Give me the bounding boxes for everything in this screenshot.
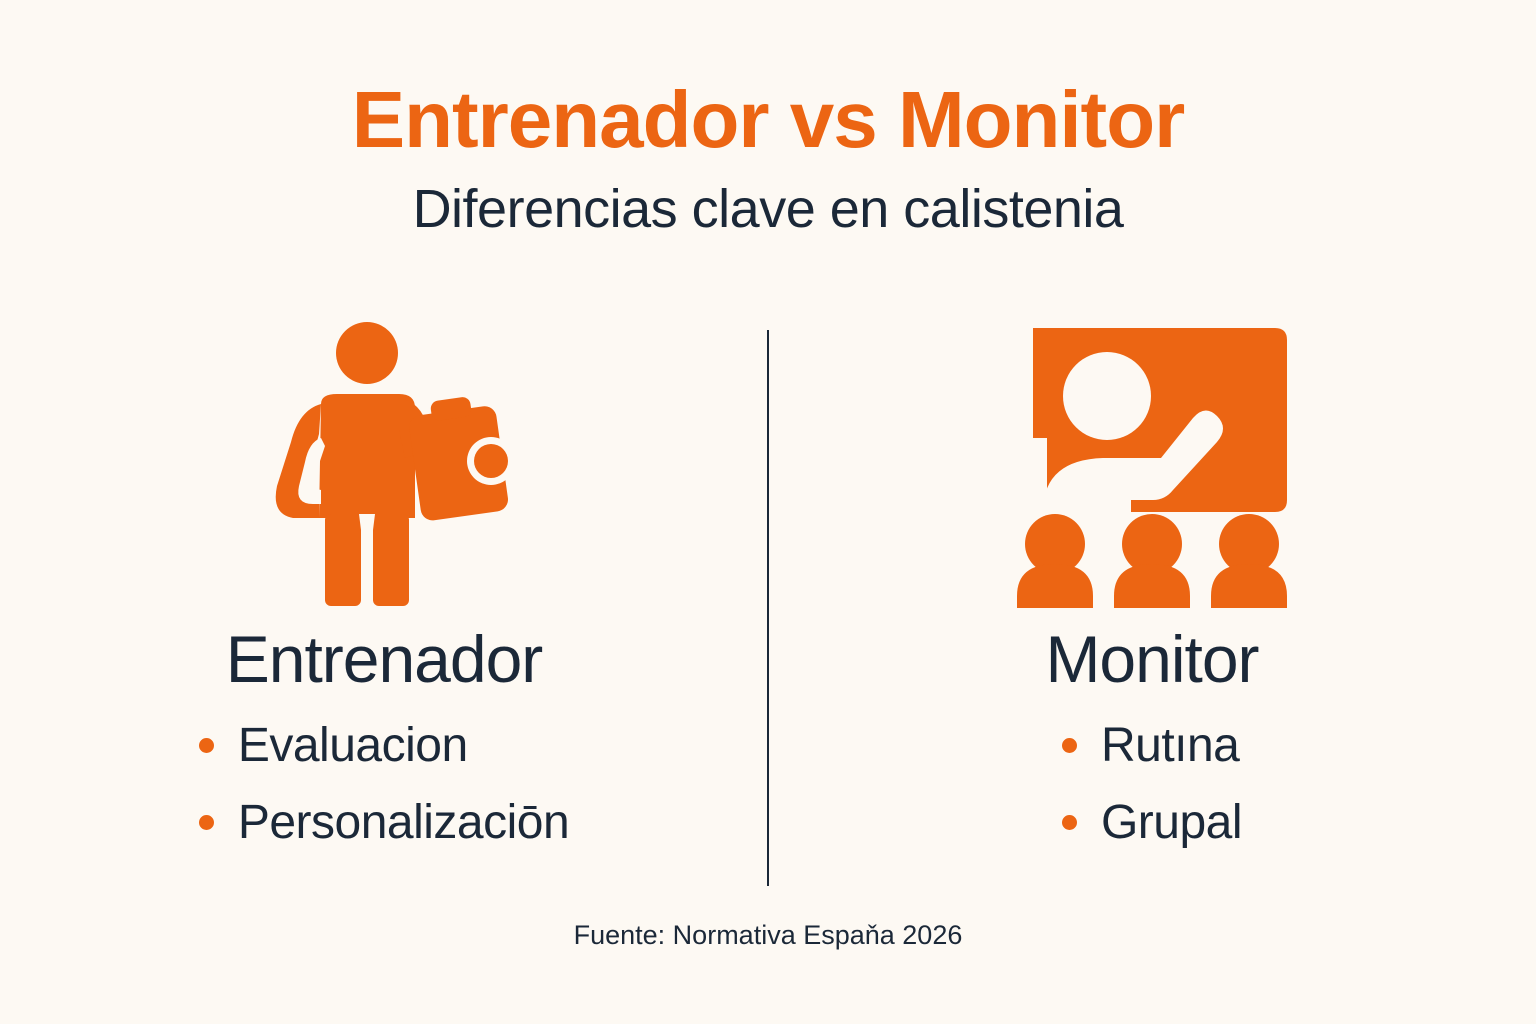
instructor-classroom-group-icon <box>1007 318 1297 608</box>
infographic-poster: Entrenador vs Monitor Diferencias clave … <box>0 0 1536 1024</box>
column-heading-entrenador: Entrenador <box>226 626 543 692</box>
bullet-dot-icon <box>199 815 214 830</box>
list-item: Grupal <box>1062 795 1242 850</box>
column-entrenador: Entrenador Evaluacion Personalizaciōn <box>0 318 768 898</box>
bullet-label: Rutına <box>1101 718 1239 773</box>
trainer-with-clipboard-icon <box>259 318 509 608</box>
list-item: Personalizaciōn <box>199 795 569 850</box>
bullet-dot-icon <box>199 738 214 753</box>
bullet-list-entrenador: Evaluacion Personalizaciōn <box>199 718 569 872</box>
list-item: Evaluacion <box>199 718 569 773</box>
bullet-dot-icon <box>1062 815 1077 830</box>
bullet-label: Evaluacion <box>238 718 468 773</box>
page-title: Entrenador vs Monitor <box>0 78 1536 162</box>
column-heading-monitor: Monitor <box>1045 626 1258 692</box>
header: Entrenador vs Monitor Diferencias clave … <box>0 78 1536 239</box>
bullet-label: Personalizaciōn <box>238 795 569 850</box>
bullet-list-monitor: Rutına Grupal <box>1062 718 1242 872</box>
footer: Fuente: Normativa Espaňa 2026 <box>0 920 1536 951</box>
bullet-label: Grupal <box>1101 795 1242 850</box>
source-note: Fuente: Normativa Espaňa 2026 <box>574 920 963 950</box>
comparison-columns: Entrenador Evaluacion Personalizaciōn <box>0 318 1536 898</box>
column-monitor: Monitor Rutına Grupal <box>768 318 1536 898</box>
list-item: Rutına <box>1062 718 1242 773</box>
page-subtitle: Diferencias clave en calistenia <box>0 180 1536 239</box>
bullet-dot-icon <box>1062 738 1077 753</box>
